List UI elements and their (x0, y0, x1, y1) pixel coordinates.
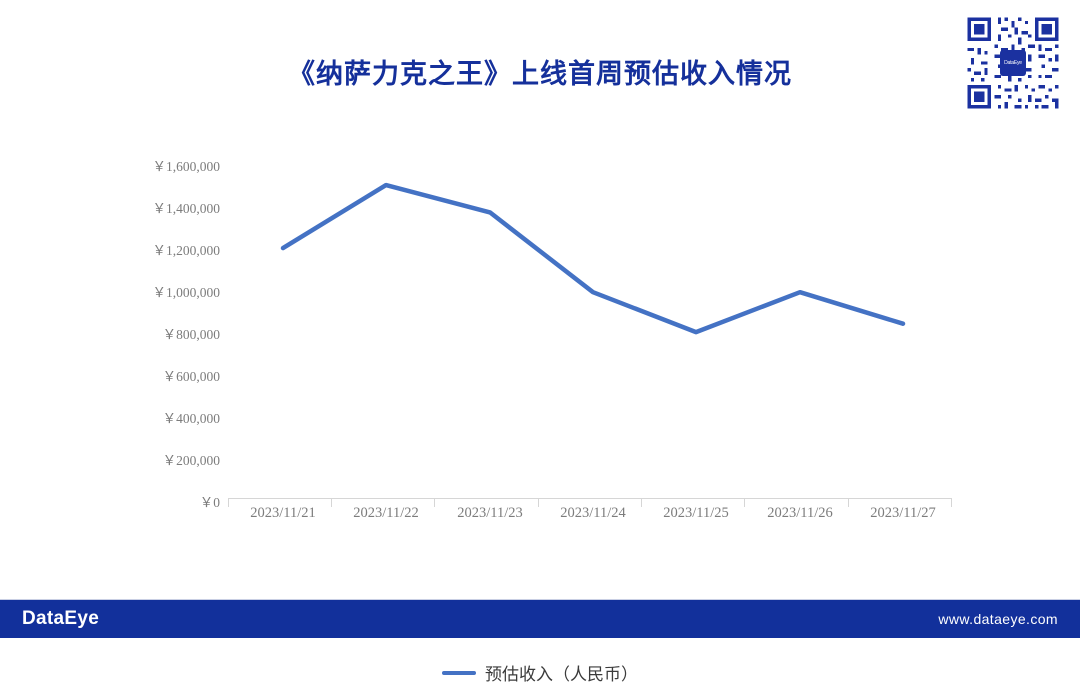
x-tick-2023-11-24: 2023/11/24 (560, 505, 626, 522)
revenue-line-series (283, 185, 903, 332)
footer-bar: DataEye www.dataeye.com (0, 600, 1080, 638)
footer-logo: DataEye (22, 608, 99, 630)
chart-container: ￥1,600,000 ￥1,400,000 ￥1,200,000 ￥1,000,… (0, 110, 1080, 580)
x-tick-2023-11-21: 2023/11/21 (250, 505, 316, 522)
footer-url[interactable]: www.dataeye.com (938, 611, 1058, 627)
chart-legend: 预估收入（人民币） (0, 660, 1080, 685)
page-title: 《纳萨力克之王》上线首周预估收入情况 (0, 52, 1080, 91)
x-tick-2023-11-22: 2023/11/22 (353, 505, 419, 522)
legend-label: 预估收入（人民币） (485, 660, 638, 685)
legend-color-swatch (442, 671, 476, 675)
x-tick-2023-11-26: 2023/11/26 (767, 505, 833, 522)
x-tick-2023-11-27: 2023/11/27 (870, 505, 936, 522)
x-tick-2023-11-23: 2023/11/23 (457, 505, 523, 522)
x-tick-2023-11-25: 2023/11/25 (663, 505, 729, 522)
x-axis-tick-labels: 2023/11/21 2023/11/22 2023/11/23 2023/11… (0, 505, 1080, 535)
